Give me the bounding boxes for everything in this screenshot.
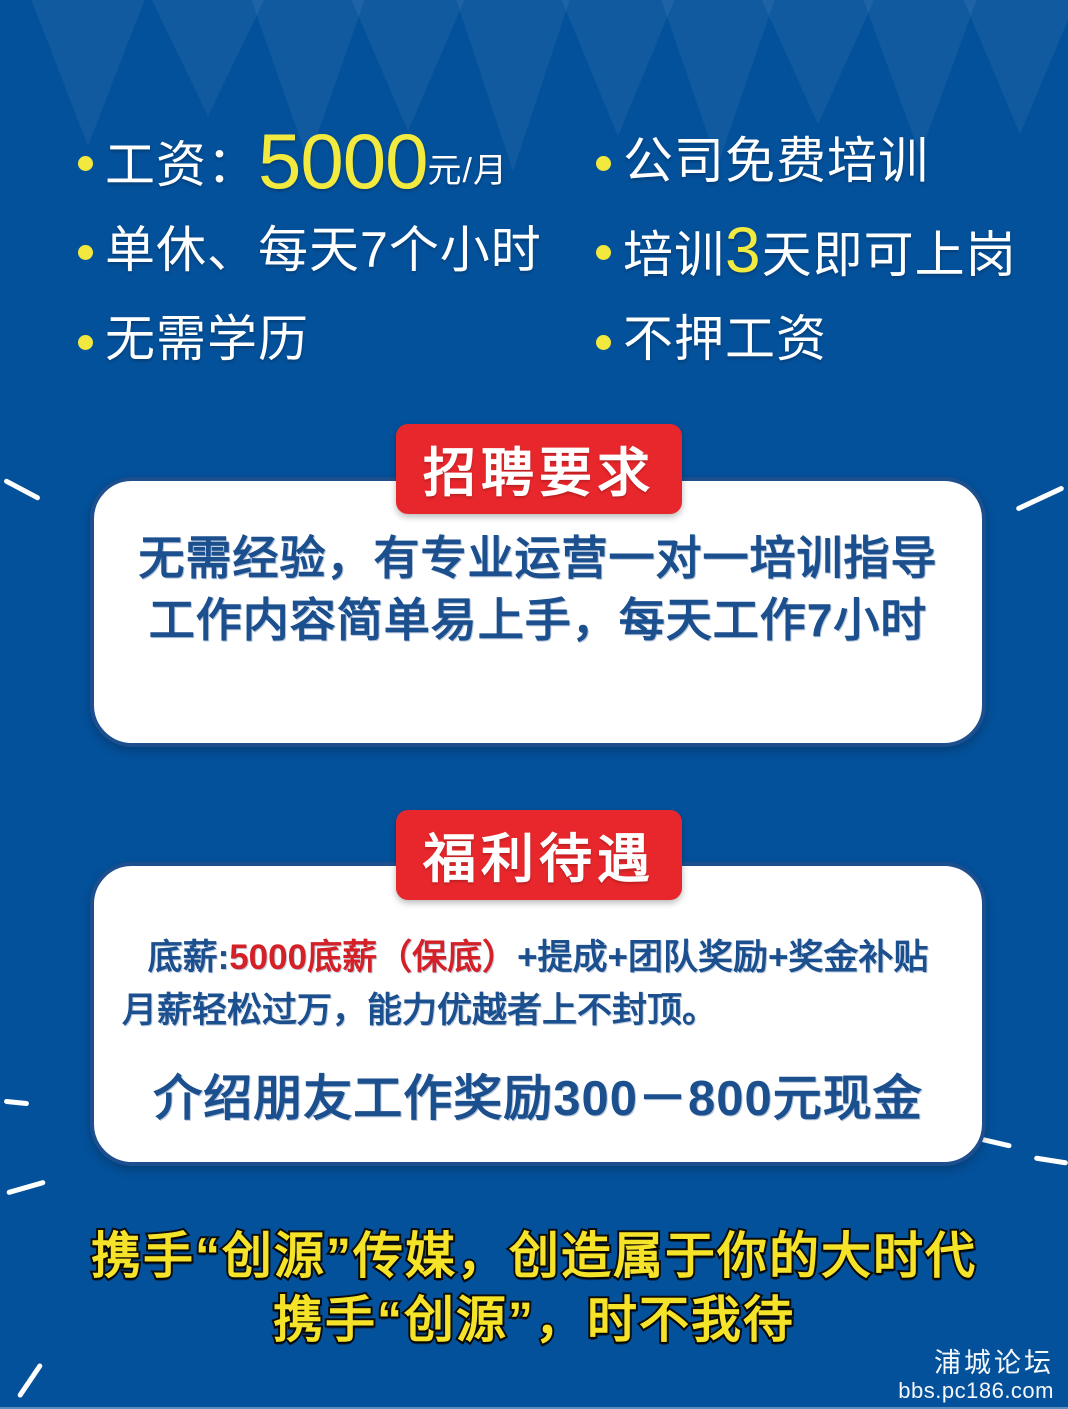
watermark-site-name: 浦城论坛 [898,1349,1054,1379]
highlight-unit: 元/月 [428,152,508,190]
benefits-badge: 福利待遇 [396,810,682,900]
edge-dash-right-1 [1015,485,1064,512]
bullet-dot-icon [596,156,611,171]
bullet-dot-icon [78,245,93,260]
highlight-text: 无需学历 [105,314,309,364]
watermark-url: bbs.pc186.com [898,1379,1054,1403]
highlight-text: 不押工资 [623,314,827,364]
highlight-text: 单休、每天7个小时 [105,225,542,275]
highlight-suffix: 天即可上岗 [762,227,1017,283]
benefits-card-body: 底薪:5000底薪（保底）+提成+团队奖励+奖金补贴 月薪轻松过万，能力优越者上… [94,932,982,1130]
benefits-salary-rest: +提成+团队奖励+奖金补贴 [517,938,928,977]
highlight-text: 工资：5000元/月 [105,122,508,200]
recruitment-poster: 工资：5000元/月 公司免费培训 单休、每天7个小时 培训3天即可上岗 无需学… [0,0,1068,1409]
benefits-salary-label: 底薪: [148,938,230,977]
highlight-item-salary: 工资：5000元/月 [78,122,596,200]
bullet-dot-icon [596,335,611,350]
benefits-referral-line: 介绍朋友工作奖励300－800元现金 [153,1059,923,1130]
slogan-line-1: 携手“创源”传媒，创造属于你的大时代 [0,1228,1068,1285]
benefits-salary-red: 5000底薪（保底） [229,938,517,977]
bullet-dot-icon [78,335,93,350]
highlight-item-no-deposit: 不押工资 [596,314,1008,364]
bullet-dot-icon [78,156,93,171]
highlight-bullet-grid: 工资：5000元/月 公司免费培训 单休、每天7个小时 培训3天即可上岗 无需学… [78,116,1008,384]
highlight-prefix: 工资： [105,137,258,193]
highlight-prefix: 单休、每天 [105,222,360,278]
watermark: 浦城论坛 bbs.pc186.com [898,1349,1054,1403]
bullet-dot-icon [596,245,611,260]
requirements-line: 无需经验，有专业运营一对一培训指导 [139,527,938,589]
highlight-item-no-degree: 无需学历 [78,314,596,364]
requirements-card: 无需经验，有专业运营一对一培训指导 工作内容简单易上手，每天工作7小时 [90,477,986,747]
highlight-suffix: 个小时 [389,222,542,278]
requirements-card-body: 无需经验，有专业运营一对一培训指导 工作内容简单易上手，每天工作7小时 [94,527,982,651]
highlight-number: 5000 [258,117,428,205]
benefits-card: 底薪:5000底薪（保底）+提成+团队奖励+奖金补贴 月薪轻松过万，能力优越者上… [90,862,986,1166]
highlight-item-training-days: 培训3天即可上岗 [596,218,1008,282]
slogan-line-2: 携手“创源”，时不我待 [0,1292,1068,1349]
highlight-text: 公司免费培训 [623,136,929,186]
benefits-note-line: 月薪轻松过万，能力优越者上不封顶。 [122,985,717,1038]
requirements-line: 工作内容简单易上手，每天工作7小时 [149,589,928,651]
highlight-number: 3 [725,214,762,286]
edge-dash-left-4 [17,1363,44,1399]
edge-dash-left-3 [6,1180,46,1196]
benefits-salary-line: 底薪:5000底薪（保底）+提成+团队奖励+奖金补贴 [148,932,929,985]
edge-dash-right-3 [1034,1155,1068,1165]
highlight-item-free-training: 公司免费培训 [596,136,1008,186]
highlight-text: 培训3天即可上岗 [623,218,1017,282]
highlight-item-hours: 单休、每天7个小时 [78,225,596,275]
requirements-badge: 招聘要求 [396,424,682,514]
edge-dash-left-2 [4,1099,29,1107]
edge-dash-left-1 [3,478,41,501]
highlight-prefix: 培训 [623,227,725,283]
highlight-number: 7 [360,222,389,278]
